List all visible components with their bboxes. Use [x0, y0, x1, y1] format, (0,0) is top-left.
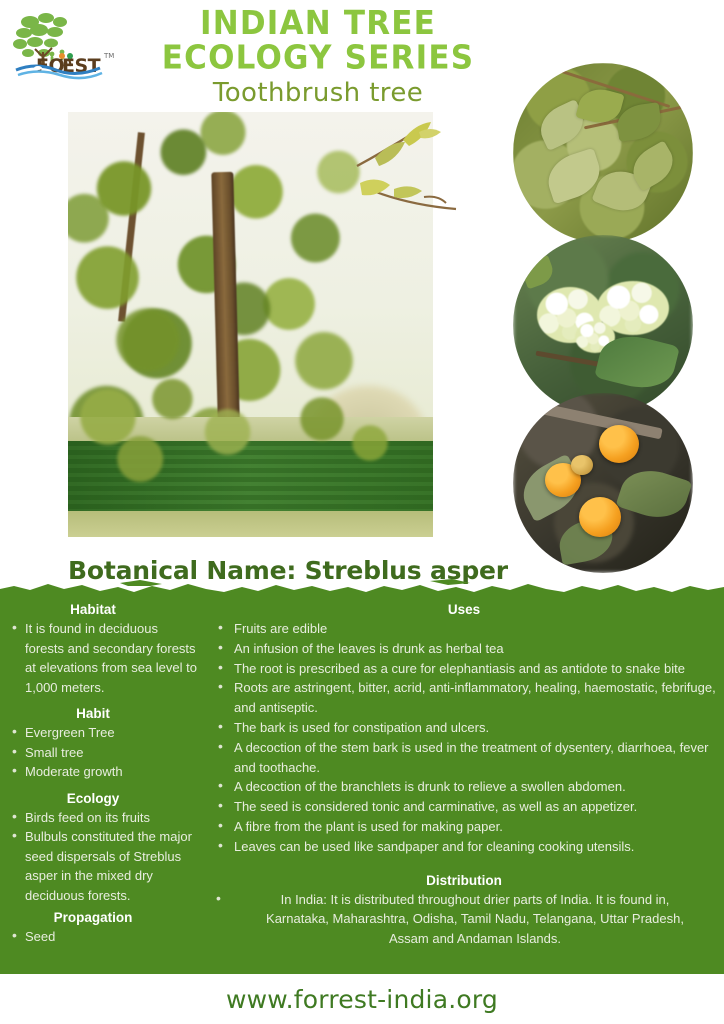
website-url[interactable]: www.forrest-india.org — [226, 985, 498, 1014]
habitat-heading: Habitat — [0, 602, 200, 617]
ecology-heading: Ecology — [0, 791, 200, 806]
common-name: Toothbrush tree — [118, 78, 518, 108]
list-item: Seed — [8, 927, 200, 947]
info-content: Habitat It is found in deciduous forests… — [0, 592, 724, 974]
info-band: Habitat It is found in deciduous forests… — [0, 592, 724, 974]
photo-canopy-lower-left — [68, 357, 292, 507]
distribution-heading: Distribution — [204, 873, 724, 888]
leaf-sprig-lower — [350, 175, 462, 245]
title-block: INDIAN TREE ECOLOGY SERIES Toothbrush tr… — [118, 2, 518, 108]
list-item: A fibre from the plant is used for makin… — [214, 817, 724, 837]
list-item: Moderate growth — [8, 762, 200, 782]
fruit-berry-small — [571, 455, 593, 475]
photo-canopy-lower-right — [277, 377, 427, 497]
logo-trademark: TM — [103, 52, 114, 60]
poster-root: FO EST TM INDIAN TREE ECOLOGY SERIES Too… — [0, 0, 724, 1024]
list-item: An infusion of the leaves is drunk as he… — [214, 639, 724, 659]
list-item: Small tree — [8, 743, 200, 763]
fruit-berry — [599, 425, 639, 463]
left-column: Habitat It is found in deciduous forests… — [0, 602, 200, 947]
list-item: Evergreen Tree — [8, 723, 200, 743]
list-item: The root is prescribed as a cure for ele… — [214, 659, 724, 679]
propagation-heading: Propagation — [0, 910, 200, 925]
forrest-logo-icon: FO EST TM — [8, 8, 118, 80]
ecology-list: Birds feed on its fruits Bulbuls constit… — [0, 808, 200, 906]
habit-list: Evergreen Tree Small tree Moderate growt… — [0, 723, 200, 782]
list-item: It is found in deciduous forests and sec… — [8, 619, 200, 697]
distribution-block: Distribution In India: It is distributed… — [204, 873, 724, 949]
distribution-text: In India: It is distributed throughout d… — [204, 890, 724, 949]
list-item: Roots are astringent, bitter, acrid, ant… — [214, 678, 724, 718]
uses-list: Fruits are edible An infusion of the lea… — [204, 619, 724, 857]
list-item: A decoction of the branchlets is drunk t… — [214, 777, 724, 797]
uses-heading: Uses — [204, 602, 724, 617]
list-item: The bark is used for constipation and ul… — [214, 718, 724, 738]
habitat-list: It is found in deciduous forests and sec… — [0, 619, 200, 697]
list-item: Fruits are edible — [214, 619, 724, 639]
propagation-list: Seed — [0, 927, 200, 947]
series-title: INDIAN TREE ECOLOGY SERIES — [118, 0, 518, 76]
leaves-photo — [513, 63, 693, 243]
right-column: Uses Fruits are edible An infusion of th… — [204, 602, 724, 948]
photo-grass — [68, 511, 433, 537]
leaf-sprig-icon-2 — [350, 175, 462, 245]
flowers-photo — [513, 235, 693, 415]
list-item: Leaves can be used like sandpaper and fo… — [214, 837, 724, 857]
list-item: A decoction of the stem bark is used in … — [214, 738, 724, 778]
list-item: Birds feed on its fruits — [8, 808, 200, 828]
forrest-logo[interactable]: FO EST TM — [8, 8, 118, 80]
list-item: Bulbuls constituted the major seed dispe… — [8, 827, 200, 905]
fruits-photo — [513, 393, 693, 573]
list-item: The seed is considered tonic and carmina… — [214, 797, 724, 817]
fruit-berry — [579, 497, 621, 537]
poster-footer: www.forrest-india.org — [0, 974, 724, 1024]
habit-heading: Habit — [0, 706, 200, 721]
